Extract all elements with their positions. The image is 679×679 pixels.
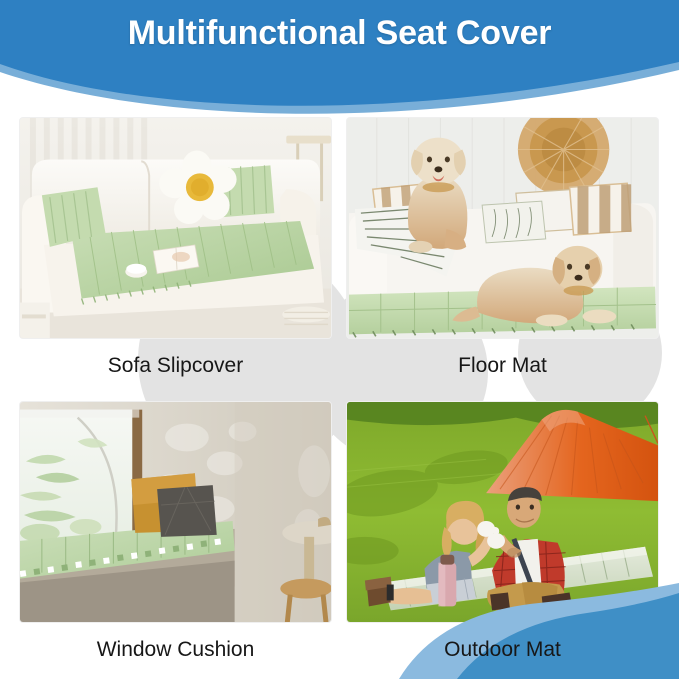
sofa-slipcover-scene: [20, 118, 331, 338]
product-label-floor-mat: Floor Mat: [346, 353, 659, 379]
product-photo-window-cushion: [19, 401, 332, 623]
product-card-outdoor-mat[interactable]: Outdoor Mat: [346, 401, 659, 663]
product-card-sofa-slipcover[interactable]: Sofa Slipcover: [19, 117, 332, 379]
product-row-1: Sofa Slipcover: [19, 117, 660, 379]
product-infographic-poster: Multifunctional Seat Cover: [0, 0, 679, 679]
floor-mat-scene: [347, 118, 658, 338]
product-card-floor-mat[interactable]: Floor Mat: [346, 117, 659, 379]
product-card-window-cushion[interactable]: Window Cushion: [19, 401, 332, 663]
product-photo-floor-mat: [346, 117, 659, 339]
thermos-bottle: [438, 555, 456, 607]
page-title: Multifunctional Seat Cover: [0, 12, 679, 54]
product-label-outdoor-mat: Outdoor Mat: [346, 637, 659, 663]
dog-on-sofa-illustration: [408, 138, 467, 253]
header-banner: Multifunctional Seat Cover: [0, 0, 679, 118]
product-label-window-cushion: Window Cushion: [19, 637, 332, 663]
product-row-2: Window Cushion: [19, 401, 660, 663]
product-photo-outdoor-mat: [346, 401, 659, 623]
product-label-sofa-slipcover: Sofa Slipcover: [19, 353, 332, 379]
outdoor-mat-scene: [347, 402, 658, 622]
product-photo-sofa-slipcover: [19, 117, 332, 339]
window-cushion-scene: [20, 402, 331, 622]
product-grid: Sofa Slipcover: [19, 117, 660, 663]
